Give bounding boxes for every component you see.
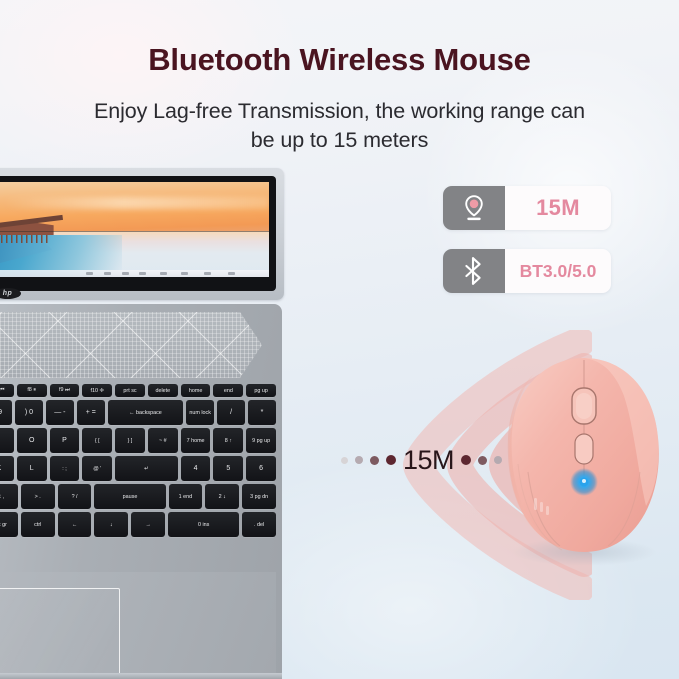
range-dot [341, 457, 348, 464]
key[interactable]: ← [58, 512, 92, 537]
speaker-grille-pattern [0, 312, 262, 378]
brand-logo: hp [0, 288, 21, 299]
key[interactable]: delete [148, 384, 178, 397]
keyboard-row[interactable]: ( 9 ) 0 — - + = ← backspace num lock / * [0, 400, 276, 425]
key[interactable]: + = [77, 400, 105, 425]
key[interactable]: { [ [82, 428, 112, 453]
key[interactable]: → [131, 512, 165, 537]
laptop-bezel [0, 176, 276, 291]
key[interactable]: pg up [246, 384, 276, 397]
keyboard-row[interactable]: I O P { [ } ] ~ # 7 home 8 ↑ 9 pg up [0, 428, 276, 453]
key[interactable]: L [17, 456, 47, 481]
key[interactable]: @ ' [82, 456, 112, 481]
laptop: hp f7 ⏮ f8 ⏸ f9 ⏭ f10 ✛ prt sc delete ho… [0, 168, 294, 679]
page-subtitle: Enjoy Lag-free Transmission, the working… [88, 97, 591, 155]
keyboard[interactable]: f7 ⏮ f8 ⏸ f9 ⏭ f10 ✛ prt sc delete home … [0, 384, 276, 564]
key[interactable]: / [217, 400, 245, 425]
key[interactable]: K [0, 456, 14, 481]
taskbar-icon[interactable] [139, 272, 146, 274]
palm-rest [0, 572, 276, 674]
wallpaper-horizon [0, 231, 269, 232]
keyboard-row[interactable]: f7 ⏮ f8 ⏸ f9 ⏭ f10 ✛ prt sc delete home … [0, 384, 276, 397]
taskbar-icon[interactable] [104, 272, 111, 274]
key[interactable]: f7 ⏮ [0, 384, 14, 397]
spec-badge-range: 15M [443, 186, 611, 230]
deck-front-edge [0, 673, 282, 679]
spec-badge-bluetooth: BT3.0/5.0 [443, 249, 611, 293]
key-numlock[interactable]: num lock [186, 400, 214, 425]
key[interactable]: f8 ⏸ [17, 384, 47, 397]
key-backspace[interactable]: ← backspace [108, 400, 183, 425]
key[interactable]: O [17, 428, 47, 453]
key[interactable]: } ] [115, 428, 145, 453]
key[interactable]: > . [21, 484, 55, 509]
range-label: 15M [396, 445, 461, 476]
taskbar-icon[interactable] [228, 272, 235, 274]
laptop-deck: f7 ⏮ f8 ⏸ f9 ⏭ f10 ✛ prt sc delete home … [0, 304, 282, 679]
key[interactable]: 7 home [181, 428, 211, 453]
taskbar-icon[interactable] [160, 272, 167, 274]
key[interactable]: ? / [58, 484, 92, 509]
range-dot [461, 455, 471, 465]
location-pin-icon [461, 193, 487, 223]
key[interactable]: 5 [213, 456, 243, 481]
key[interactable]: 6 [246, 456, 276, 481]
scroll-wheel-inner [576, 393, 592, 419]
key[interactable]: 4 [181, 456, 211, 481]
range-dot [355, 456, 363, 464]
key[interactable]: alt gr [0, 512, 18, 537]
dpi-button [575, 434, 593, 464]
key[interactable]: 2 ↓ [205, 484, 239, 509]
key[interactable]: ( 9 [0, 400, 12, 425]
taskbar-icon[interactable] [86, 272, 93, 274]
key[interactable]: 0 ins [168, 512, 239, 537]
key[interactable]: 8 ↑ [213, 428, 243, 453]
product-marketing-image: Bluetooth Wireless Mouse Enjoy Lag-free … [0, 0, 679, 679]
taskbar-icon[interactable] [181, 272, 188, 274]
range-dot [386, 455, 396, 465]
badge-icon-slot [443, 186, 505, 230]
badge-value-range: 15M [505, 186, 611, 230]
key[interactable]: 1 end [169, 484, 203, 509]
badge-icon-slot [443, 249, 505, 293]
keyboard-row[interactable]: alt gr ctrl ← ↓ → 0 ins . del [0, 512, 276, 537]
wireless-mouse [488, 352, 678, 567]
key[interactable]: P [50, 428, 80, 453]
range-dot [370, 456, 379, 465]
key[interactable]: f9 ⏭ [50, 384, 80, 397]
page-title: Bluetooth Wireless Mouse [0, 42, 679, 78]
bluetooth-icon [463, 256, 485, 286]
taskbar-icon[interactable] [204, 272, 211, 274]
key[interactable]: 9 pg up [246, 428, 276, 453]
trackpad[interactable] [0, 588, 120, 679]
key[interactable]: ↓ [94, 512, 128, 537]
key[interactable]: * [248, 400, 276, 425]
taskbar-icon[interactable] [122, 272, 129, 274]
laptop-screen [0, 182, 269, 277]
led-core [582, 479, 586, 483]
key[interactable]: end [213, 384, 243, 397]
brand-logo-text: hp [3, 290, 13, 297]
keyboard-row[interactable]: < , > . ? / pause 1 end 2 ↓ 3 pg dn [0, 484, 276, 509]
wallpaper-hut-posts [1, 234, 48, 243]
screen-taskbar[interactable] [0, 270, 269, 277]
key[interactable]: ctrl [21, 512, 55, 537]
keyboard-row[interactable]: K L : ; @ ' ↵ 4 5 6 [0, 456, 276, 481]
key-pause[interactable]: pause [94, 484, 165, 509]
spec-badge-list: 15M BT3.0/5.0 [443, 186, 611, 312]
key[interactable]: — - [46, 400, 74, 425]
key[interactable]: < , [0, 484, 18, 509]
key[interactable]: : ; [50, 456, 80, 481]
badge-value-bluetooth: BT3.0/5.0 [505, 249, 611, 293]
key-enter[interactable]: ↵ [115, 456, 178, 481]
key[interactable]: 3 pg dn [242, 484, 276, 509]
range-dot [478, 456, 487, 465]
key[interactable]: prt sc [115, 384, 145, 397]
key[interactable]: f10 ✛ [82, 384, 112, 397]
key[interactable]: I [0, 428, 14, 453]
key[interactable]: ) 0 [15, 400, 43, 425]
key[interactable]: . del [242, 512, 276, 537]
key[interactable]: ~ # [148, 428, 178, 453]
key[interactable]: home [181, 384, 211, 397]
laptop-lid: hp [0, 168, 284, 300]
wallpaper-sun-glow [4, 197, 270, 208]
